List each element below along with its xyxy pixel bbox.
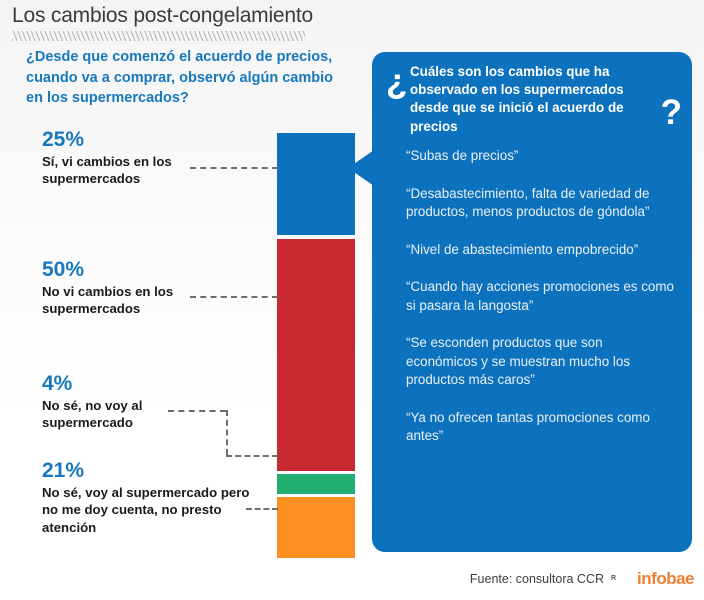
stat-percent: 4% <box>42 372 192 396</box>
stacked-bar-chart <box>277 133 355 558</box>
panel-question-text: Cuáles son los cambios que ha observado … <box>410 63 660 136</box>
leader-line-4-horizontal-2 <box>226 455 278 457</box>
leader-line-4-vertical <box>226 410 228 455</box>
infographic-canvas: Los cambios post-congelamiento ¿Desde qu… <box>0 0 704 600</box>
hatch-divider <box>12 31 305 41</box>
survey-question: ¿Desde que comenzó el acuerdo de precios… <box>26 47 346 109</box>
page-title: Los cambios post-congelamiento <box>12 4 313 28</box>
quotes-list: “Subas de precios” “Desabastecimiento, f… <box>406 147 674 465</box>
stat-percent: 25% <box>42 128 257 152</box>
stat-item-no-vi-cambios: 50% No vi cambios en los supermercados <box>42 258 257 318</box>
quote-item: “Subas de precios” <box>406 147 674 166</box>
quote-item: “Cuando hay acciones promociones es como… <box>406 278 674 315</box>
panel-pointer-arrow <box>348 150 374 186</box>
stat-item-no-se-voy-pero: 21% No sé, voy al supermercado pero no m… <box>42 459 264 537</box>
question-mark-icon: ? <box>661 95 682 130</box>
stat-description: Sí, vi cambios en los supermercados <box>42 153 257 188</box>
infobae-logo: infobae <box>637 569 694 589</box>
quote-item: “Ya no ofrecen tantas promociones como a… <box>406 409 674 446</box>
quotes-panel: ¿ Cuáles son los cambios que ha observad… <box>372 52 692 552</box>
source-credit: Fuente: consultora CCR <box>470 572 604 586</box>
bar-segment-si-vi-cambios <box>277 133 355 235</box>
stat-percent: 50% <box>42 258 257 282</box>
panel-header: ¿ Cuáles son los cambios que ha observad… <box>386 62 682 124</box>
bar-segment-no-se-voy-pero <box>277 497 355 558</box>
stat-item-si-vi-cambios: 25% Sí, vi cambios en los supermercados <box>42 128 257 188</box>
bar-segment-no-vi-cambios <box>277 239 355 471</box>
stat-item-no-se-no-voy: 4% No sé, no voy al supermercado <box>42 372 192 432</box>
stat-description: No sé, no voy al supermercado <box>42 397 192 432</box>
registered-mark-icon: R <box>611 575 616 582</box>
stat-percent: 21% <box>42 459 264 483</box>
quote-item: “Desabastecimiento, falta de variedad de… <box>406 185 674 222</box>
bar-segment-no-se-no-voy <box>277 474 355 494</box>
quote-item: “Se esconden productos que son económico… <box>406 334 674 390</box>
quote-item: “Nivel de abastecimiento empobrecido” <box>406 241 674 260</box>
inverted-question-mark-icon: ¿ <box>386 64 407 99</box>
stat-description: No sé, voy al supermercado pero no me do… <box>42 484 264 537</box>
stat-description: No vi cambios en los supermercados <box>42 283 257 318</box>
